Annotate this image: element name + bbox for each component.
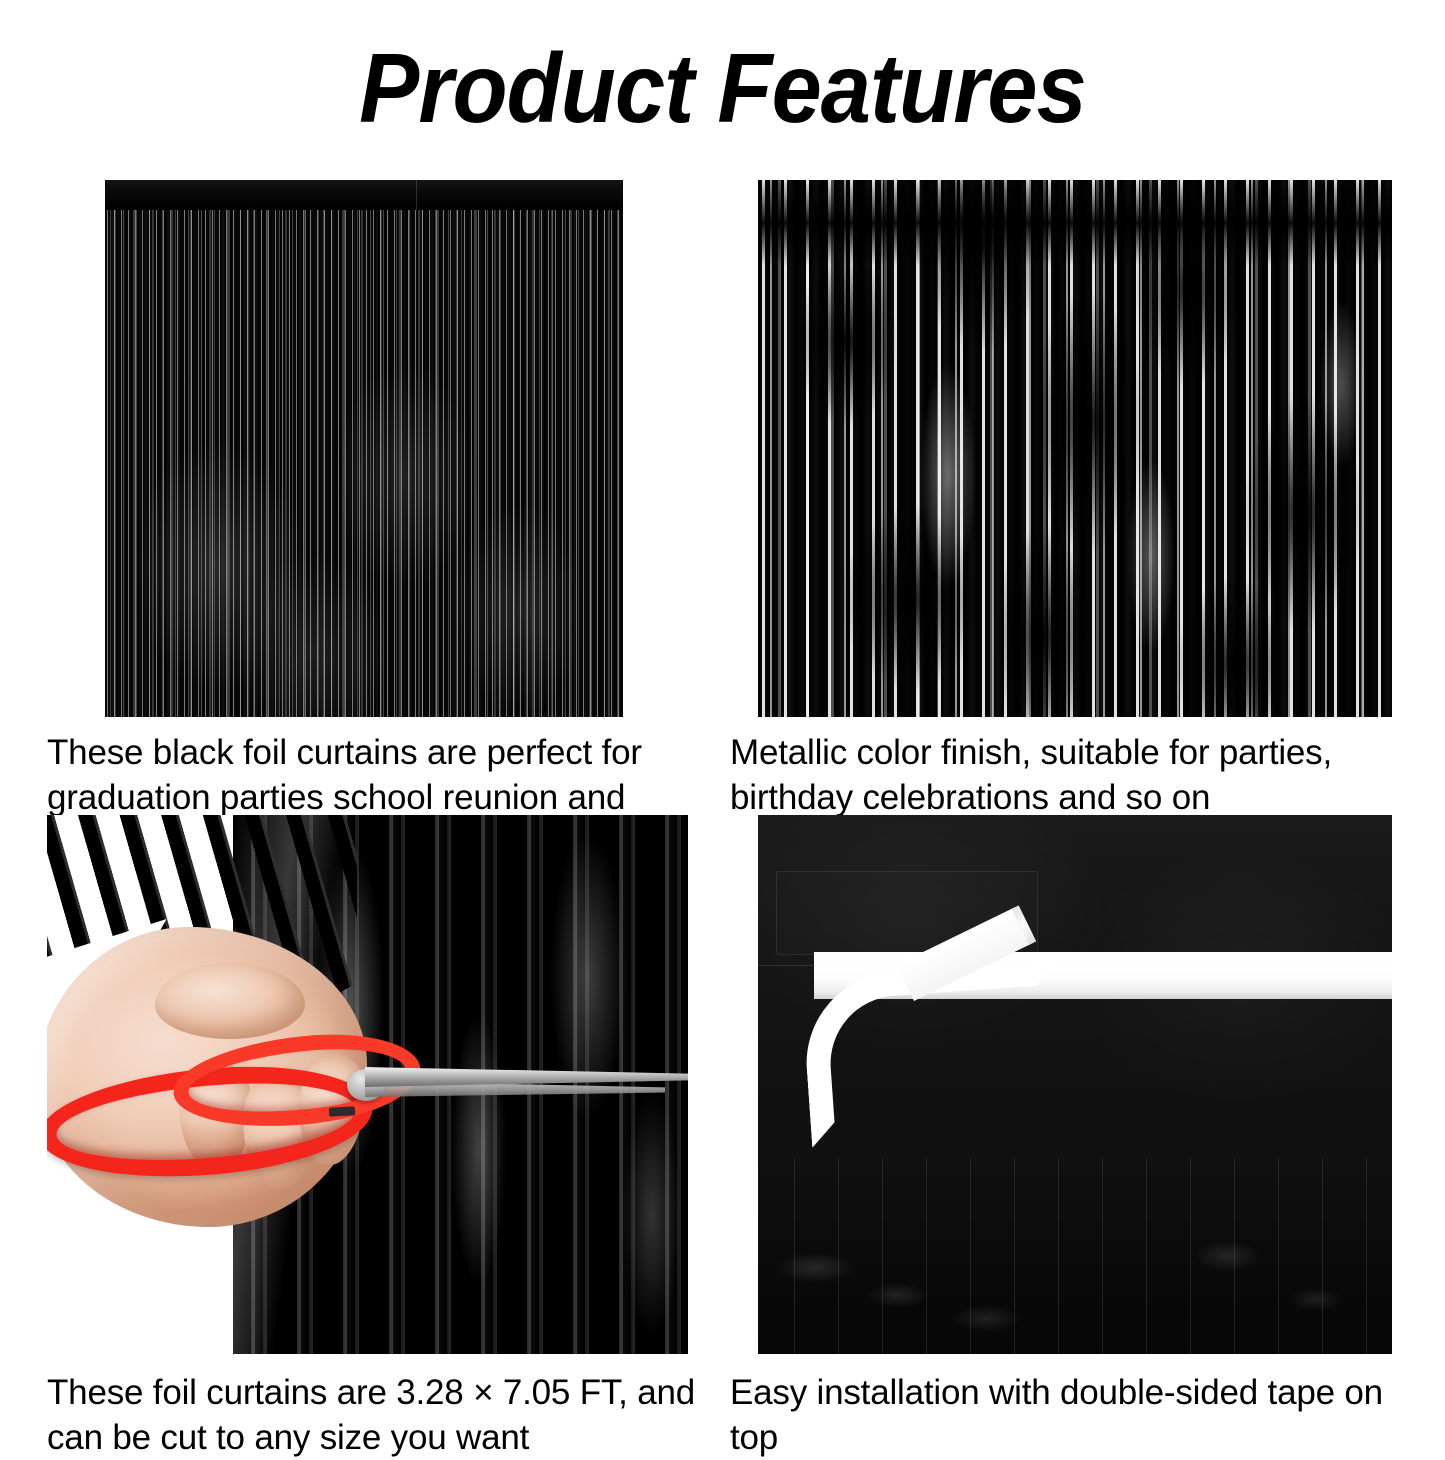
scissors-handle-marking	[329, 1106, 355, 1116]
double-sided-tape-on-top-image	[758, 815, 1392, 1354]
feature-caption-3: These foil curtains are 3.28 × 7.05 FT, …	[47, 1370, 707, 1460]
curtain-header-bar	[105, 180, 623, 210]
curtain-fringe-highlights	[758, 1158, 1392, 1354]
feature-card-2	[758, 180, 1392, 717]
feature-caption-2: Metallic color finish, suitable for part…	[730, 730, 1430, 820]
feature-caption-4: Easy installation with double-sided tape…	[730, 1370, 1430, 1460]
metallic-finish-closeup-image	[758, 180, 1392, 717]
foil-specular-overlay	[758, 180, 1392, 717]
thumb	[155, 963, 305, 1039]
black-foil-curtain-full-view-image	[105, 180, 623, 717]
page-title: Product Features	[58, 34, 1387, 142]
double-sided-tape	[758, 951, 1392, 1071]
cutting-curtain-with-scissors-image	[47, 815, 688, 1354]
feature-card-3	[47, 815, 688, 1354]
feature-card-1	[105, 180, 623, 717]
foil-highlight-overlay	[105, 180, 623, 717]
feature-card-4	[758, 815, 1392, 1354]
